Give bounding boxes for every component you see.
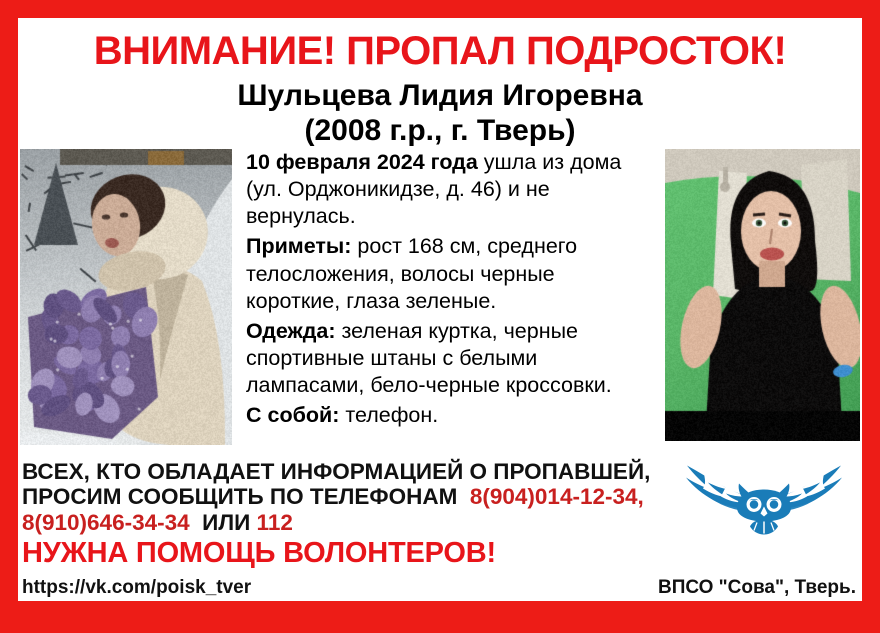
poster-inner: ВНИМАНИЕ! ПРОПАЛ ПОДРОСТОК! Шульцева Лид… bbox=[18, 18, 862, 601]
footer: https://vk.com/poisk_tver ВПСО "Сова", Т… bbox=[22, 577, 856, 599]
phone-number-2[interactable]: 8(910)646-34-34 bbox=[22, 510, 190, 535]
description-carried-label: С собой: bbox=[246, 403, 339, 427]
organization-label: ВПСО "Сова", Тверь. bbox=[658, 577, 856, 599]
description-disappearance-label: 10 февраля 2024 года bbox=[246, 150, 478, 174]
photo-right-image bbox=[665, 149, 860, 441]
description-clothing-label: Одежда: bbox=[246, 319, 336, 343]
missing-person-poster: ВНИМАНИЕ! ПРОПАЛ ПОДРОСТОК! Шульцева Лид… bbox=[0, 0, 880, 633]
emergency-number[interactable]: 112 bbox=[257, 510, 293, 535]
content-row: 10 февраля 2024 года ушла из дома (ул. О… bbox=[18, 149, 862, 455]
appeal-phone-prompt: ПРОСИМ СООБЩИТЬ ПО ТЕЛЕФОНАМ bbox=[22, 484, 457, 509]
appeal-block: ВСЕХ, КТО ОБЛАДАЕТ ИНФОРМАЦИЕЙ О ПРОПАВШ… bbox=[18, 459, 862, 567]
photo-right bbox=[665, 149, 860, 441]
description-block: 10 февраля 2024 года ушла из дома (ул. О… bbox=[246, 149, 654, 433]
page-title: ВНИМАНИЕ! ПРОПАЛ ПОДРОСТОК! bbox=[18, 18, 862, 71]
person-birth-city: (2008 г.р., г. Тверь) bbox=[18, 113, 862, 148]
vk-link[interactable]: https://vk.com/poisk_tver bbox=[22, 577, 251, 599]
description-carried: С собой: телефон. bbox=[246, 402, 654, 429]
phone-number-1[interactable]: 8(904)014-12-34, bbox=[470, 484, 644, 509]
description-carried-text: телефон. bbox=[339, 403, 438, 427]
volunteers-call: НУЖНА ПОМОЩЬ ВОЛОНТЕРОВ! bbox=[22, 537, 862, 570]
person-name: Шульцева Лидия Игоревна bbox=[18, 78, 862, 113]
description-features: Приметы: рост 168 см, среднего телосложе… bbox=[246, 233, 654, 315]
owl-logo bbox=[674, 457, 854, 539]
description-clothing: Одежда: зеленая куртка, черные спортивны… bbox=[246, 318, 654, 400]
description-disappearance: 10 февраля 2024 года ушла из дома (ул. О… bbox=[246, 149, 654, 231]
photo-left bbox=[20, 149, 232, 445]
description-features-label: Приметы: bbox=[246, 234, 351, 258]
appeal-or-label: ИЛИ bbox=[202, 510, 250, 535]
photo-left-image bbox=[20, 149, 232, 445]
